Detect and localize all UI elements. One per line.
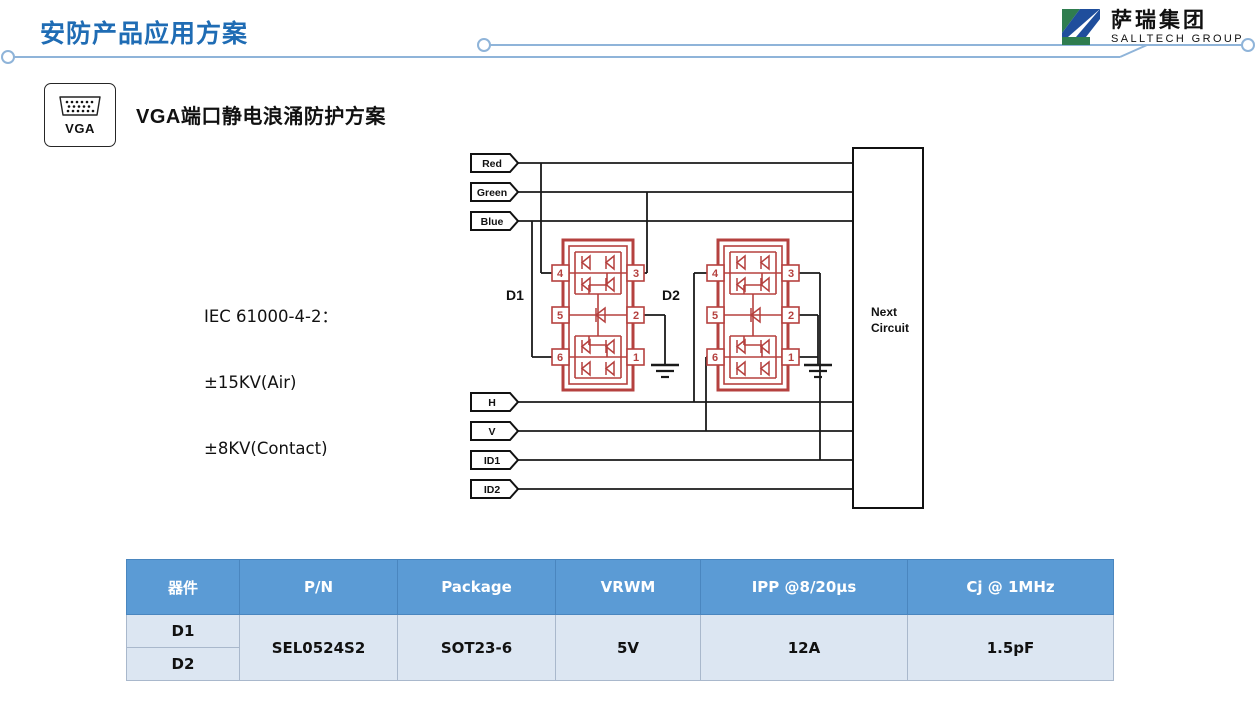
next-circuit-block: Next Circuit [853, 148, 923, 508]
cell-pn: SEL0524S2 [240, 615, 398, 681]
ground-symbol-d1 [651, 345, 679, 377]
parts-table: 器件 P/N Package VRWM IPP @8/20μs Cj @ 1MH… [126, 559, 1114, 681]
signal-label-text: ID1 [484, 455, 501, 467]
circuit-diagram: 4 5 6 3 2 1 4 5 6 3 2 1 D1 D2 Red Green … [460, 140, 940, 520]
vga-connector-icon [55, 94, 105, 118]
next-circuit-line2: Circuit [871, 321, 909, 335]
table-header-cj: Cj @ 1MHz [908, 560, 1114, 615]
table-header-ipp: IPP @8/20μs [701, 560, 908, 615]
d1-pin-3: 3 [633, 268, 639, 280]
spec-line-3: ±8KV(Contact) [204, 438, 338, 460]
d1-pin-2: 2 [633, 310, 639, 322]
tvs-array-d1 [552, 240, 644, 390]
cell-cj: 1.5pF [908, 615, 1114, 681]
signal-label-id2: ID2 [471, 480, 518, 498]
page-title: 安防产品应用方案 [40, 14, 248, 50]
signal-label-text: Red [482, 158, 502, 170]
cell-vrwm: 5V [556, 615, 701, 681]
device-label-d1: D1 [506, 287, 524, 303]
signal-label-h: H [471, 393, 518, 411]
signal-label-text: H [488, 397, 496, 409]
signal-label-text: Blue [481, 216, 504, 228]
salltech-z-logo-icon [1060, 7, 1104, 47]
circuit-schematic: 4 5 6 3 2 1 4 5 6 3 2 1 D1 D2 Red Green … [460, 140, 940, 520]
tvs-array-d2 [707, 240, 799, 390]
vga-icon-label: VGA [65, 121, 95, 136]
cell-package: SOT23-6 [398, 615, 556, 681]
section-heading: VGA端口静电浪涌防护方案 [136, 100, 386, 129]
d2-pin-1: 1 [788, 352, 794, 364]
d2-pin-2: 2 [788, 310, 794, 322]
table-row: D1 SEL0524S2 SOT23-6 5V 12A 1.5pF [127, 615, 1114, 648]
d2-pin-5: 5 [712, 310, 718, 322]
signal-label-text: ID2 [484, 484, 501, 496]
signal-label-text: V [488, 426, 495, 438]
d1-pin-5: 5 [557, 310, 563, 322]
signal-label-red: Red [471, 154, 518, 172]
d2-pin-6: 6 [712, 352, 718, 364]
next-circuit-line1: Next [871, 305, 897, 319]
table-header-row: 器件 P/N Package VRWM IPP @8/20μs Cj @ 1MH… [127, 560, 1114, 615]
table-header-device: 器件 [127, 560, 240, 615]
brand-logo: 萨瑞集团 SALLTECH GROUP [1060, 4, 1244, 50]
cell-device-d2: D2 [127, 648, 240, 681]
spec-line-1: IEC 61000-4-2： [204, 306, 338, 328]
table-header-vrwm: VRWM [556, 560, 701, 615]
ground-symbol-d2 [804, 345, 832, 377]
logo-english-name: SALLTECH GROUP [1111, 34, 1244, 45]
d2-pin-4: 4 [712, 268, 719, 280]
d1-pin-1: 1 [633, 352, 639, 364]
device-label-d2: D2 [662, 287, 680, 303]
signal-label-v: V [471, 422, 518, 440]
d2-pin-3: 3 [788, 268, 794, 280]
cell-ipp: 12A [701, 615, 908, 681]
signal-label-blue: Blue [471, 212, 518, 230]
spec-line-2: ±15KV(Air) [204, 372, 338, 394]
signal-label-green: Green [471, 183, 518, 201]
signal-label-text: Green [477, 187, 507, 199]
signal-label-id1: ID1 [471, 451, 518, 469]
logo-chinese-name: 萨瑞集团 [1111, 10, 1244, 31]
table-header-pn: P/N [240, 560, 398, 615]
vga-port-icon: VGA [44, 83, 116, 147]
d1-pin-4: 4 [557, 268, 564, 280]
table-header-package: Package [398, 560, 556, 615]
d2-wiring [694, 273, 820, 460]
d1-pin-6: 6 [557, 352, 563, 364]
cell-device-d1: D1 [127, 615, 240, 648]
